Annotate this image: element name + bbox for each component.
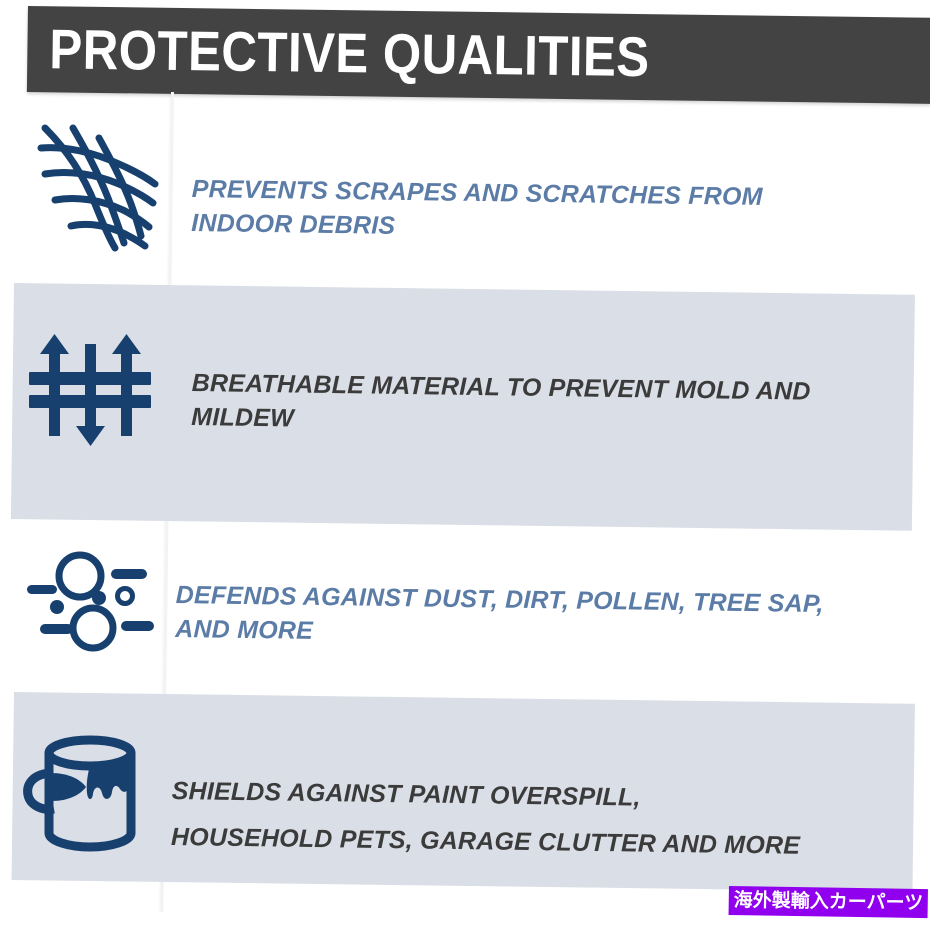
- feature-icon-2-cell: [20, 330, 160, 450]
- feature-text-3: DEFENDS AGAINST DUST, DIRT, POLLEN, TREE…: [175, 578, 916, 656]
- paint-can-drip-icon: [18, 729, 154, 857]
- breathable-airflow-arrows-icon: [25, 332, 155, 448]
- feature-text-1: PREVENTS SCRAPES AND SCRATCHES FROM INDO…: [191, 172, 892, 250]
- feature-text-4: SHIELDS AGAINST PAINT OVERSPILL, HOUSEHO…: [171, 768, 912, 870]
- mesh-net-icon: [31, 112, 161, 252]
- dust-particles-icon: [24, 549, 156, 653]
- feature-icon-3-cell: [20, 545, 160, 657]
- infographic-page: PROTECTIVE QUALITIES PREVENTS SCRAPES AN…: [0, 0, 930, 930]
- header-banner: PROTECTIVE QUALITIES: [27, 6, 930, 104]
- feature-icon-1-cell: [22, 108, 170, 256]
- page-title: PROTECTIVE QUALITIES: [49, 12, 650, 94]
- watermark-badge: 海外製輸入カーパーツ: [729, 886, 929, 918]
- feature-icon-4-cell: [14, 725, 158, 861]
- feature-text-2: BREATHABLE MATERIAL TO PREVENT MOLD AND …: [191, 366, 892, 444]
